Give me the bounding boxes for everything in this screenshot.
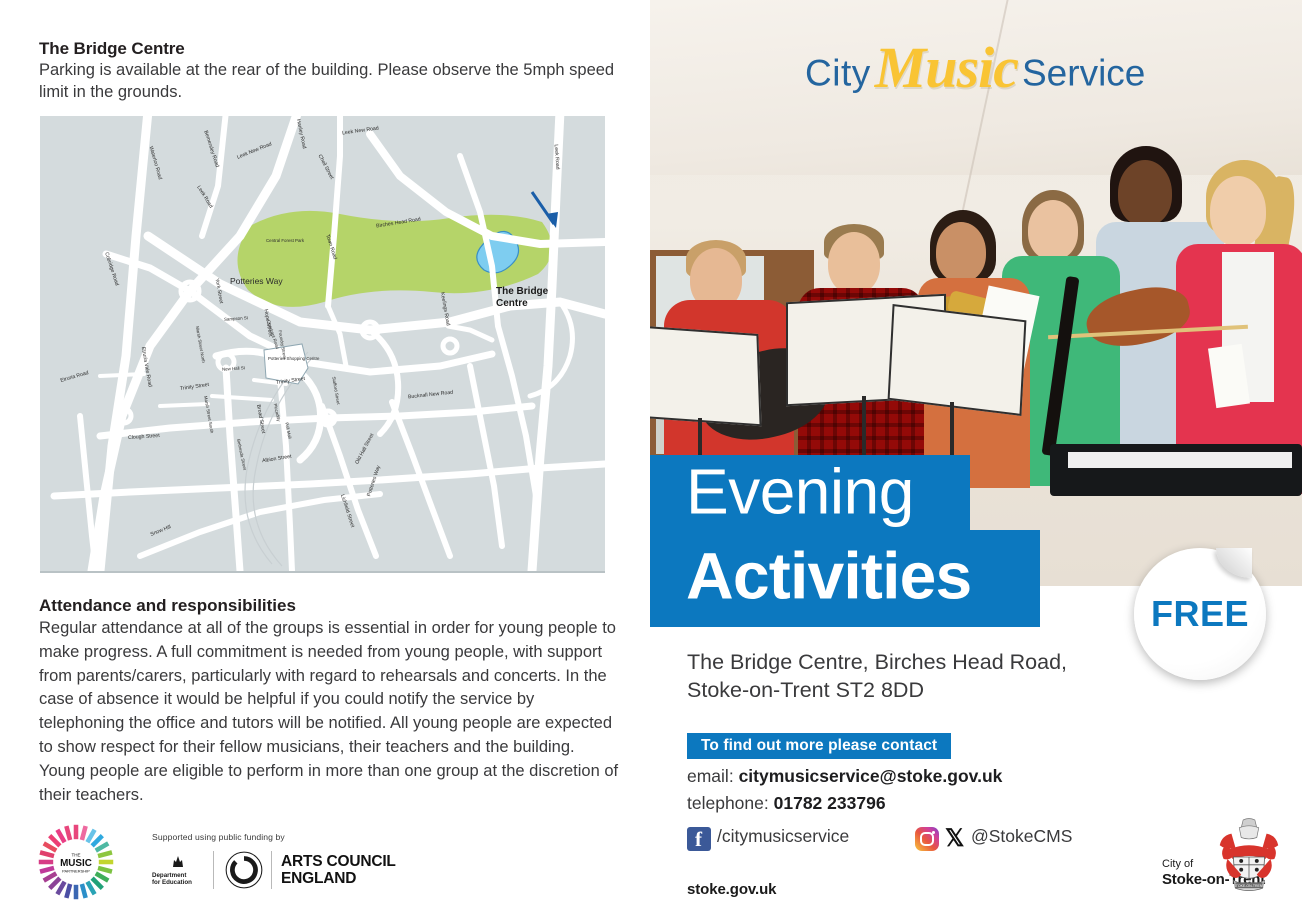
- website-url[interactable]: stoke.gov.uk: [687, 881, 776, 898]
- address-block: The Bridge Centre, Birches Head Road, St…: [687, 648, 1157, 704]
- instagram-icon[interactable]: [915, 827, 939, 851]
- facebook-handle[interactable]: /citymusicservice: [717, 826, 849, 847]
- music-stand: [650, 326, 762, 427]
- logo-word-service: Service: [1022, 53, 1145, 94]
- title-evening: Evening: [686, 459, 914, 523]
- contact-bar-label: To find out more please contact: [701, 737, 937, 755]
- email-value[interactable]: citymusicservice@stoke.gov.uk: [739, 766, 1003, 786]
- logo-word-city: City: [805, 53, 871, 94]
- facebook-icon[interactable]: [687, 827, 711, 851]
- free-badge-label: FREE: [1151, 593, 1249, 635]
- email-row: email: citymusicservice@stoke.gov.uk: [687, 766, 1002, 787]
- email-label: email:: [687, 766, 734, 786]
- stoke-on-trent-crest-logo: City of Stoke-on-Trent STOKE-ON-TRENT: [1162, 816, 1294, 908]
- right-column: CityMusicService Evening Activities FREE…: [650, 0, 1302, 919]
- location-map[interactable]: The Bridge Centre Central Forest Park Po…: [40, 116, 605, 573]
- svg-text:PARTNERSHIP: PARTNERSHIP: [62, 869, 90, 874]
- logo-word-music: Music: [875, 35, 1018, 100]
- address-line-1: The Bridge Centre, Birches Head Road,: [687, 648, 1157, 676]
- contact-bar: To find out more please contact: [687, 733, 951, 759]
- funding-supported-text: Supported using public funding by: [152, 832, 396, 842]
- title-block-activities: Activities: [650, 530, 1040, 627]
- logo-divider-2: [271, 851, 272, 889]
- venue-body-text: Parking is available at the rear of the …: [39, 60, 619, 103]
- left-column: The Bridge Centre Parking is available a…: [0, 0, 650, 919]
- dfe-label-line1: Department: [152, 872, 204, 879]
- svg-text:STOKE-ON-TRENT: STOKE-ON-TRENT: [1233, 884, 1265, 888]
- map-graphic: [40, 116, 605, 571]
- x-twitter-icon[interactable]: 𝕏: [945, 824, 964, 853]
- crown-icon: [170, 854, 186, 870]
- svg-text:MUSIC: MUSIC: [60, 858, 92, 869]
- attendance-body-text: Regular attendance at all of the groups …: [39, 617, 619, 807]
- x-handle[interactable]: @StokeCMS: [971, 826, 1072, 847]
- dfe-label-line2: for Education: [152, 879, 204, 886]
- brochure-page: The Bridge Centre Parking is available a…: [0, 0, 1302, 919]
- telephone-label: telephone:: [687, 793, 769, 813]
- title-block-evening: Evening: [650, 455, 970, 530]
- coat-of-arms-icon: STOKE-ON-TRENT: [1210, 816, 1288, 898]
- arts-council-england-text: ARTS COUNCIL ENGLAND: [281, 853, 396, 887]
- city-music-service-logo: CityMusicService: [805, 40, 1145, 107]
- map-marker-label: The Bridge Centre: [496, 286, 548, 309]
- logo-divider-1: [213, 851, 214, 889]
- music-partnership-logo: THE MUSIC PARTNERSHIP: [38, 824, 114, 900]
- svg-text:THE: THE: [71, 853, 80, 858]
- venue-heading: The Bridge Centre: [39, 39, 629, 59]
- telephone-row: telephone: 01782 233796: [687, 793, 886, 814]
- funding-block: Supported using public funding by Depart…: [152, 832, 396, 891]
- attendance-heading: Attendance and responsibilities: [39, 596, 629, 616]
- arts-council-mark-icon: [223, 849, 265, 891]
- music-stand: [888, 304, 1027, 416]
- telephone-value[interactable]: 01782 233796: [774, 793, 886, 813]
- department-for-education-logo: Department for Education: [152, 854, 204, 886]
- crest-city-label: City of: [1162, 858, 1193, 870]
- title-activities: Activities: [686, 542, 971, 608]
- address-line-2: Stoke-on-Trent ST2 8DD: [687, 676, 1157, 704]
